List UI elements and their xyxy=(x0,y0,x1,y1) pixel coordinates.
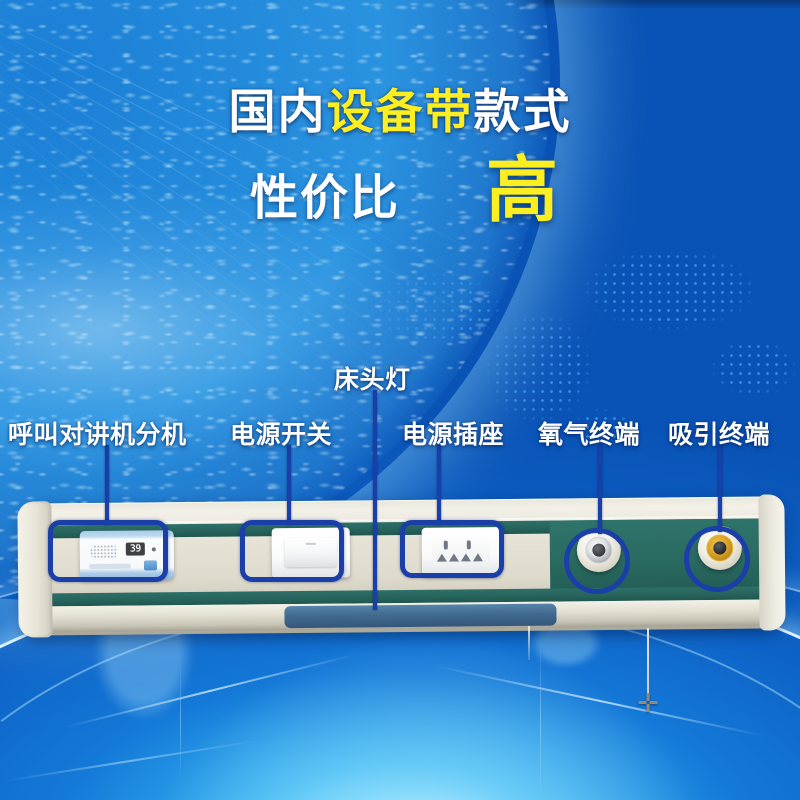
highlight-box-switch xyxy=(240,520,344,582)
promo-banner: 国内设备带款式 性价比 高 呼叫对讲机分机 电源开关 床头灯 电源插座 氧气终端… xyxy=(0,0,800,800)
callout-label-intercom: 呼叫对讲机分机 xyxy=(8,415,187,451)
highlight-circle-suction xyxy=(684,526,750,592)
callout-label-group: 呼叫对讲机分机 电源开关 床头灯 电源插座 氧气终端 吸引终端 xyxy=(0,0,800,800)
callout-label-socket: 电源插座 xyxy=(402,415,504,451)
callout-label-bedlamp: 床头灯 xyxy=(334,360,411,396)
callout-label-switch: 电源开关 xyxy=(230,415,332,451)
highlight-circle-oxygen xyxy=(564,528,630,594)
callout-label-oxygen: 氧气终端 xyxy=(538,415,640,451)
highlight-box-intercom xyxy=(48,520,168,582)
highlight-box-socket xyxy=(400,520,504,578)
callout-label-suction: 吸引终端 xyxy=(668,415,770,451)
